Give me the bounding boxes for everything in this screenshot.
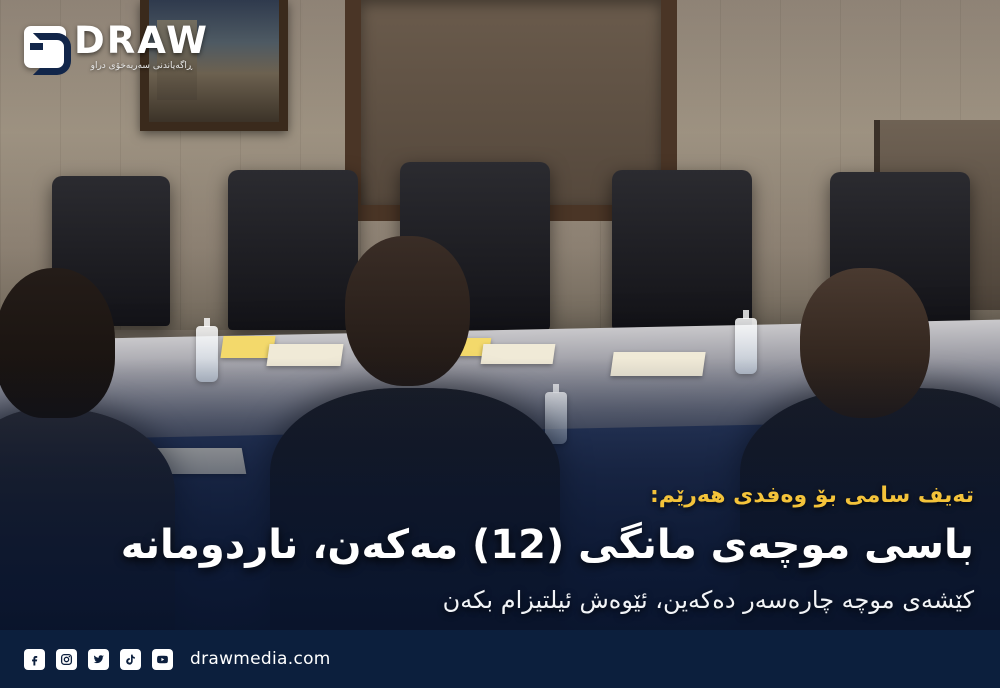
headline-text: باسی موچەی مانگی (12) مەکەن، ناردومانە (26, 520, 974, 570)
headline-block: تەیف سامی بۆ وەفدی هەرێم: باسی موچەی مان… (0, 483, 1000, 616)
brand-logo-subtitle: ڕاگەیاندنی سەربەخۆی دراو (74, 62, 209, 71)
chair-2 (228, 170, 358, 330)
tiktok-icon[interactable] (120, 649, 141, 670)
chair-4 (612, 170, 752, 330)
twitter-icon[interactable] (88, 649, 109, 670)
subheadline-text: کێشەی موچە چارەسەر دەکەین، ئێوەش ئیلتیزا… (26, 584, 974, 616)
footer-bar: drawmedia.com (0, 630, 1000, 688)
draw-d-logo-icon (24, 26, 66, 68)
news-graphic-card: DRAW ڕاگەیاندنی سەربەخۆی دراو تەیف سامی … (0, 0, 1000, 688)
brand-logo[interactable]: DRAW ڕاگەیاندنی سەربەخۆی دراو (24, 22, 209, 71)
website-url[interactable]: drawmedia.com (190, 649, 331, 669)
kicker-text: تەیف سامی بۆ وەفدی هەرێم: (26, 483, 974, 508)
instagram-icon[interactable] (56, 649, 77, 670)
brand-logo-text: DRAW ڕاگەیاندنی سەربەخۆی دراو (74, 22, 209, 71)
brand-logo-word: DRAW (74, 22, 209, 59)
facebook-icon[interactable] (24, 649, 45, 670)
youtube-icon[interactable] (152, 649, 173, 670)
